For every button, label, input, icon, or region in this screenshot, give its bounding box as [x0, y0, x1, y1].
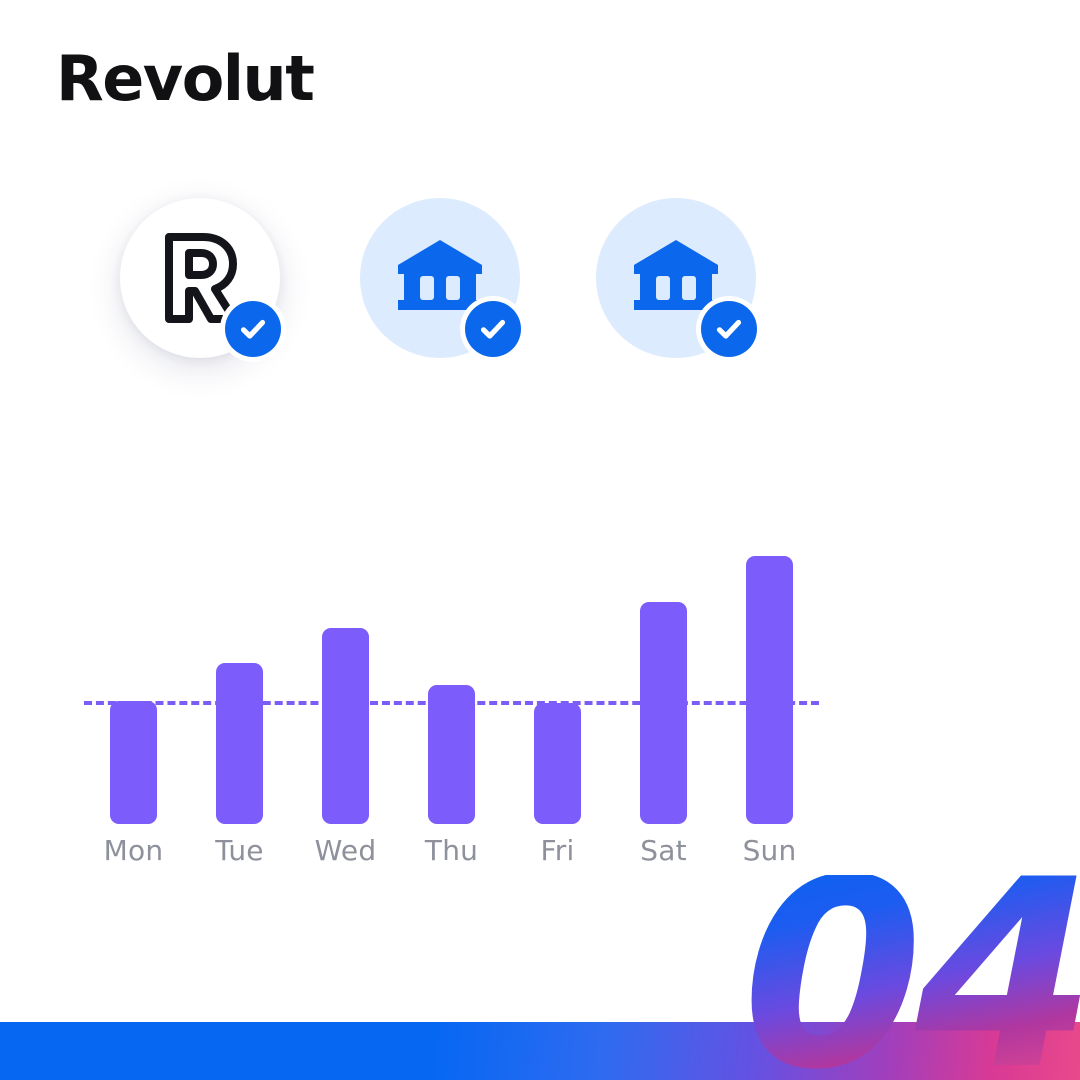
chart-bar[interactable] — [640, 602, 687, 824]
check-icon — [713, 313, 745, 345]
check-icon — [477, 313, 509, 345]
weekly-activity-chart: MonTueWedThuFriSatSun — [84, 556, 844, 886]
chart-bar[interactable] — [534, 703, 581, 824]
chart-bar[interactable] — [428, 685, 475, 824]
account-badge-bank-1[interactable] — [360, 198, 520, 358]
chart-plot-area — [84, 556, 844, 824]
linked-accounts-row — [120, 198, 820, 398]
axis-label-sat: Sat — [619, 834, 709, 867]
check-icon — [237, 313, 269, 345]
slide-number: 04 — [742, 875, 1080, 1078]
check-circle — [701, 301, 757, 357]
verified-check-badge — [696, 296, 762, 362]
chart-bar[interactable] — [216, 663, 263, 824]
axis-label-tue: Tue — [195, 834, 285, 867]
chart-bar[interactable] — [110, 701, 157, 824]
revolut-wordmark: Revolut — [56, 48, 313, 110]
chart-bar[interactable] — [746, 556, 793, 824]
axis-label-mon: Mon — [89, 834, 179, 867]
account-badge-revolut[interactable] — [120, 198, 280, 358]
check-circle — [225, 301, 281, 357]
axis-label-thu: Thu — [407, 834, 497, 867]
axis-label-wed: Wed — [301, 834, 391, 867]
verified-check-badge — [220, 296, 286, 362]
chart-bar[interactable] — [322, 628, 369, 824]
axis-label-fri: Fri — [513, 834, 603, 867]
slide-canvas: Revolut — [0, 0, 1080, 1080]
check-circle — [465, 301, 521, 357]
chart-x-axis: MonTueWedThuFriSatSun — [84, 834, 844, 874]
account-badge-bank-2[interactable] — [596, 198, 756, 358]
verified-check-badge — [460, 296, 526, 362]
